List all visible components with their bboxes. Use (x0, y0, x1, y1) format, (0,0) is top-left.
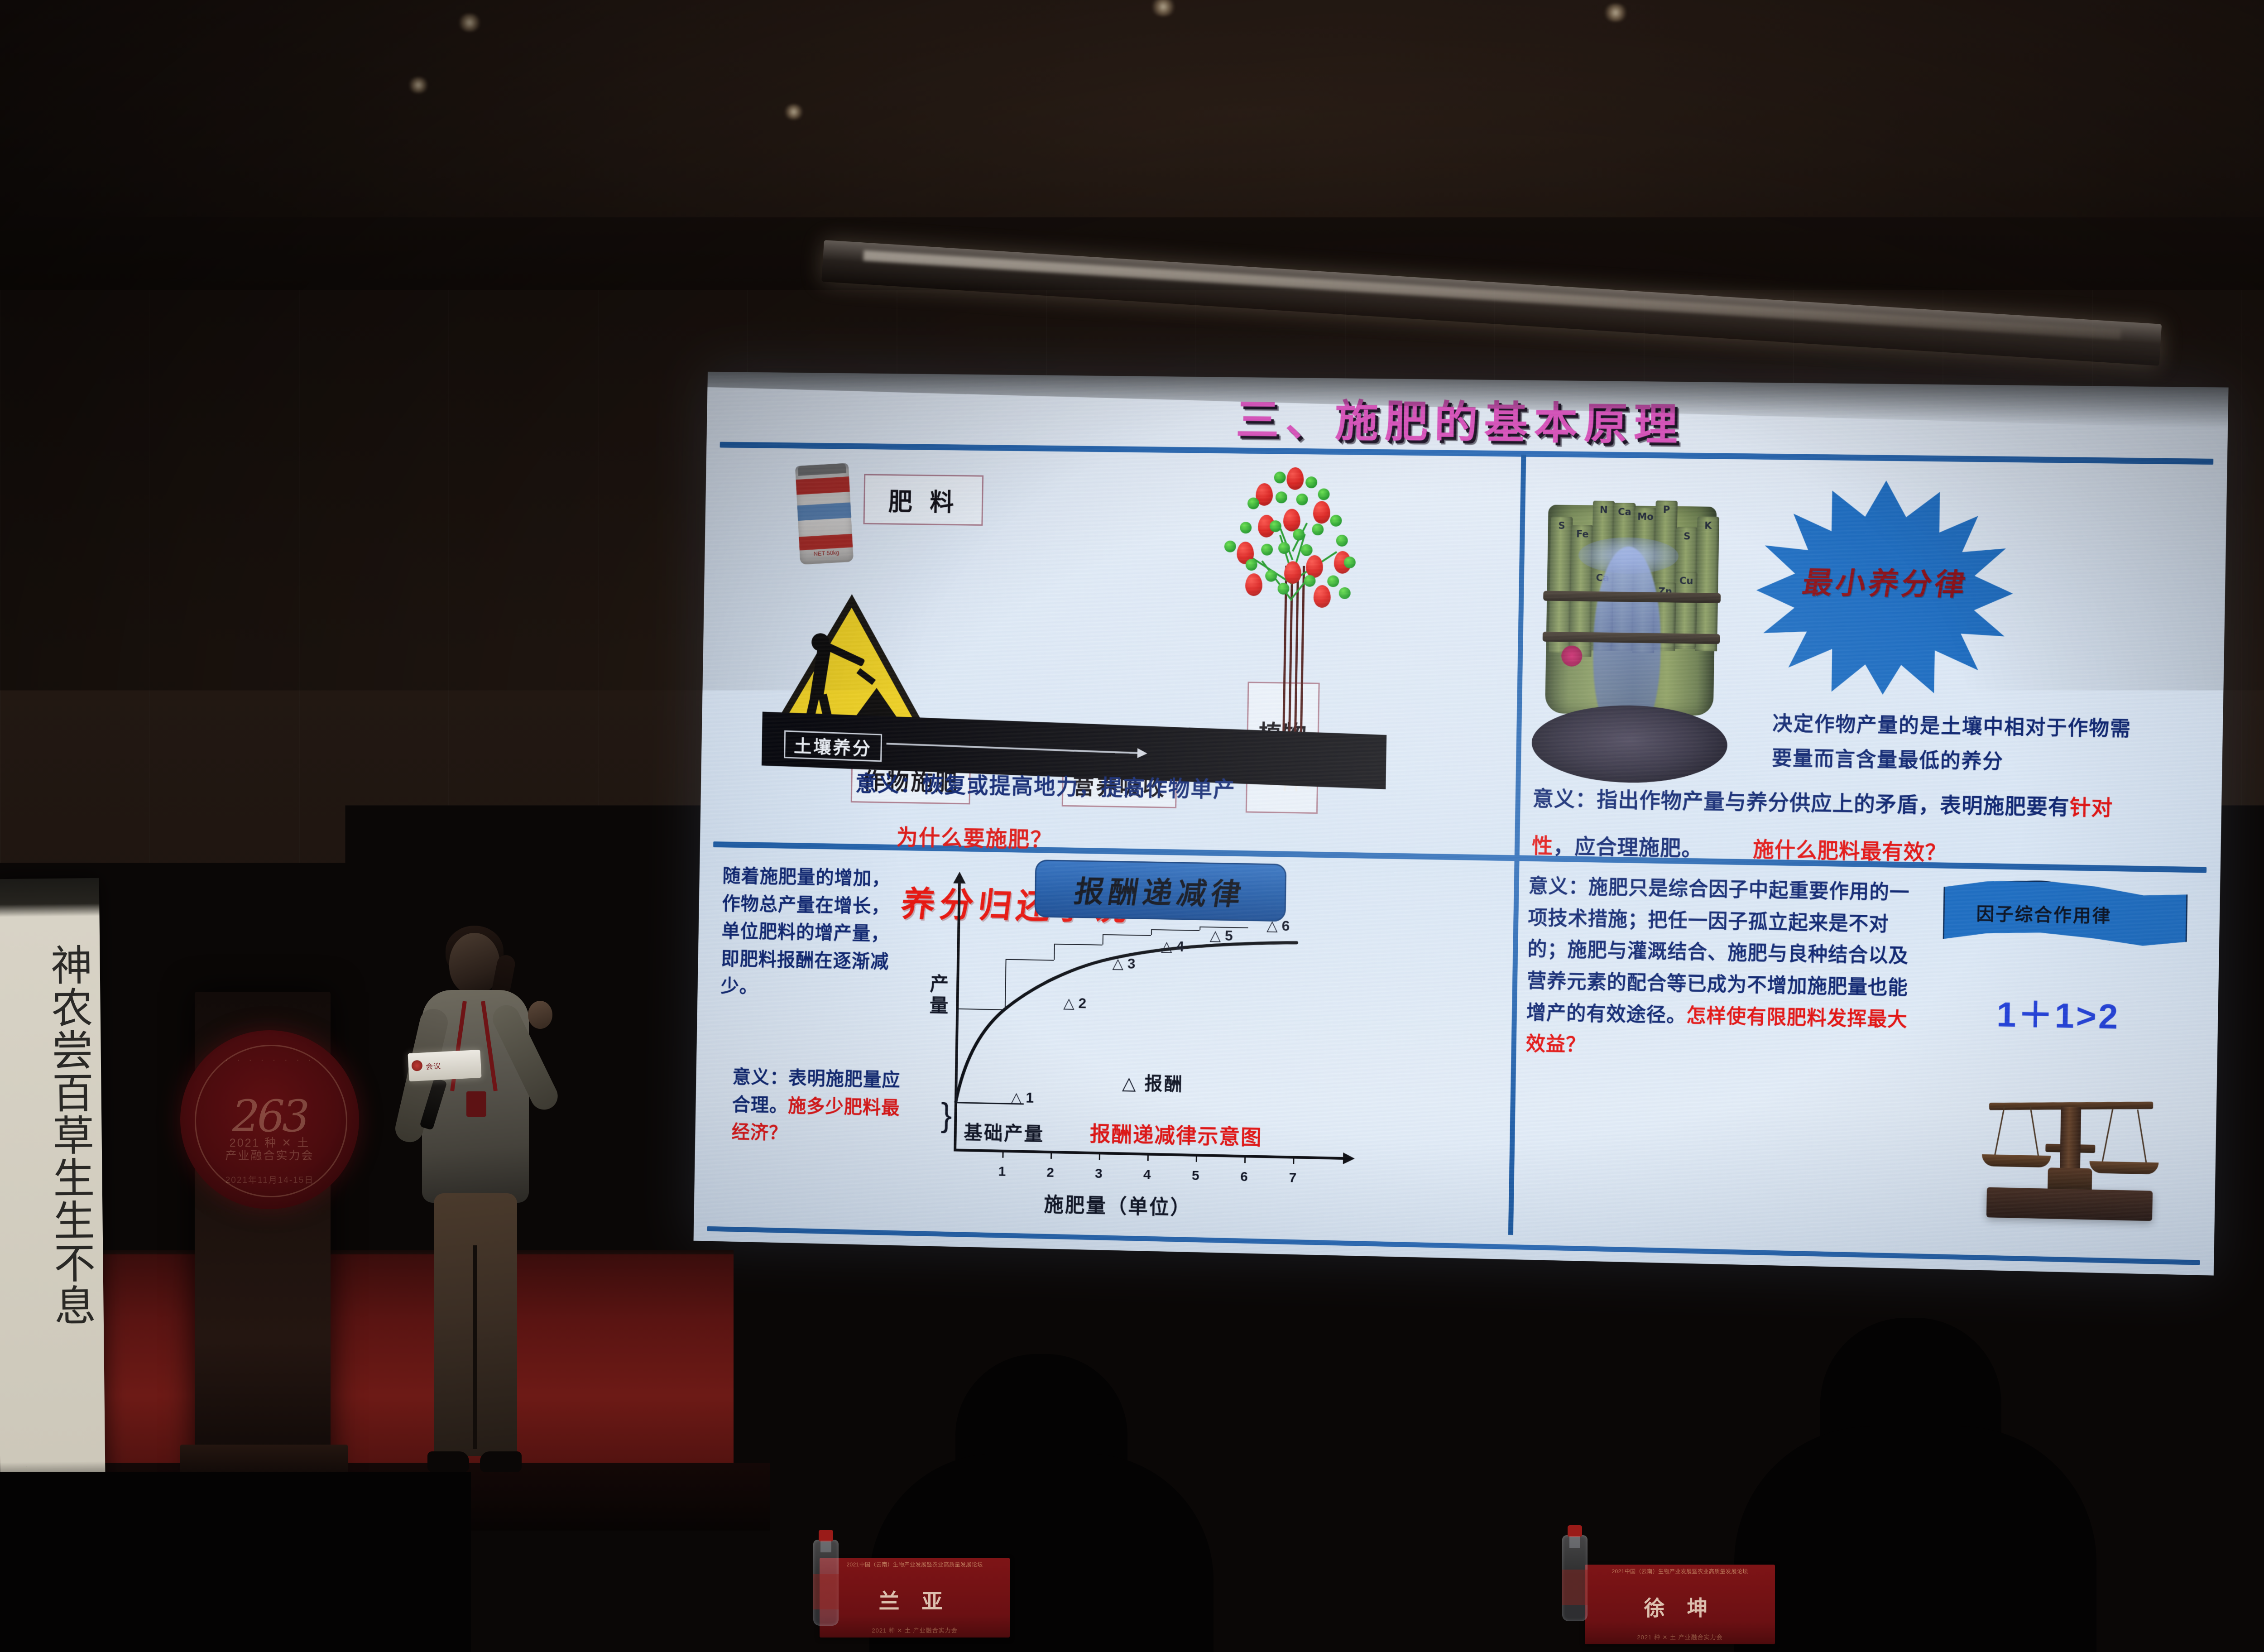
water-bottle (2223, 1513, 2249, 1599)
emblem-line-2: 产业融合实力会 (180, 1147, 359, 1163)
meaning-text-highlight-b: 性 (1532, 833, 1554, 858)
synergy-formula: 1＋1>2 (1996, 986, 2120, 1039)
nameplate-footer: 2021 种 ✕ 土 产业融合实力会 (1585, 1633, 1775, 1641)
ceiling-spot-light (408, 77, 429, 93)
chart-increment-label: △ 3 (1112, 955, 1135, 972)
combined-factors-paragraph: 意义：施肥只是综合因子中起重要作用的一项技术措施；把任一因子孤立起来是不对的；施… (1525, 871, 1912, 1068)
combined-factors-body: 意义：施肥只是综合因子中起重要作用的一项技术措施；把任一因子孤立起来是不对的；施… (1526, 875, 1910, 1027)
ceiling-spot-light (783, 104, 804, 120)
liebig-barrel-illustration: S Fe N Ca Mo P S K Ca Cu Zn (1531, 477, 1732, 789)
conference-room: 三、施肥的基本原理 NET 50kg 肥 料 作物 (0, 0, 2264, 1652)
fertilizer-bag-icon: NET 50kg (795, 463, 854, 565)
chart-increment-label: △ 1 (1011, 1089, 1034, 1106)
question-which-fertilizer: 施什么肥料最有效？ (1753, 837, 1947, 865)
barrel-stave: K (1695, 517, 1719, 652)
emblem-ring-text: · · · · · · · · (180, 1055, 359, 1066)
audience-silhouette (0, 1472, 471, 1652)
stave-label: K (1697, 520, 1719, 532)
diminishing-returns-chart: 报酬递减律 产量 施肥量（单位） 1 2 3 4 5 6 7 (910, 853, 1405, 1224)
stage-carpet (0, 1254, 734, 1490)
stave-label: P (1655, 504, 1678, 515)
nameplate-footer: 2021 种 ✕ 土 产业融合实力会 (2042, 1609, 2214, 1618)
meaning-text-part-a: 意义：指出作物产量与养分供应上的矛盾，表明施肥要有 (1532, 786, 2070, 820)
chart-increment-label: △ 6 (1266, 917, 1290, 935)
emblem-line-3: 2021年11月14-15日 (180, 1173, 359, 1186)
stave-label: Cu (1675, 575, 1698, 586)
chart-legend: △ 报酬 (1122, 1068, 1185, 1096)
chart-increment-label: △ 4 (1161, 937, 1184, 955)
stave-label: Fe (1572, 528, 1594, 540)
chart-baseline-brace: } (941, 1104, 952, 1127)
nameplate-footer: 2021 种 ✕ 土 产业融合实力会 (820, 1626, 1010, 1634)
meaning-text-highlight-a: 针对 (2069, 795, 2113, 820)
chart-step (1151, 929, 1199, 936)
chart-caption: 报酬递减律示意图 (1089, 1117, 1262, 1151)
nameplate-name: 王奉光 (2042, 1570, 2214, 1600)
ceiling-spot-light (457, 14, 482, 32)
presenter-speaker: 会议 (398, 933, 548, 1494)
ceiling-glow (0, 0, 2264, 217)
meaning-text-nutrient-return: 意义：恢复或提高地力，提高作物单产 (855, 766, 1236, 803)
law-of-minimum-description: 决定作物产量的是土壤中相对于作物需要量而言含量最低的养分 (1771, 707, 2139, 782)
water-bottle (813, 1540, 839, 1626)
quadrant-diminishing-returns: 随着施肥量的增加，作物总产量在增长，单位肥料的增产量，即肥料报酬在逐渐减少。 意… (710, 852, 1509, 1234)
quadrant-combined-factors: 意义：施肥只是综合因子中起重要作用的一项技术措施；把任一因子孤立起来是不对的；施… (1518, 866, 2204, 1249)
presentation-slide: 三、施肥的基本原理 NET 50kg 肥 料 作物 (694, 372, 2229, 1276)
nameplate: 2021中国（云南）生物产业发展暨农业高质量发展论坛 徐 坤 2021 种 ✕ … (1585, 1565, 1775, 1644)
nameplate-header: 2021中国（云南）生物产业发展暨农业高质量发展论坛 (1585, 1567, 1775, 1575)
stave-label: Ca (1614, 506, 1636, 518)
chart-step (1054, 944, 1102, 961)
question-why-fertilize: 为什么要施肥？ (896, 819, 1053, 853)
meaning-text-part-b: ，应合理施肥。 (1553, 834, 1703, 861)
worker-warning-sign-icon (777, 593, 926, 730)
ceiling-spot-light (1603, 4, 1628, 22)
diminishing-returns-meaning: 意义：表明施肥量应合理。施多少肥料最经济？ (731, 1063, 911, 1150)
nameplate-header: 2021中国（云南）生物产业发展暨农业高质量发展论坛 (820, 1561, 1010, 1568)
microphone-flag: 会议 (408, 1050, 481, 1081)
starburst-law-of-minimum: 最小养分律 (1755, 479, 2015, 696)
stave-label: S (1676, 531, 1698, 542)
meaning-text-law-of-minimum-line2: 性，应合理施肥。施什么肥料最有效？ (1532, 829, 1947, 866)
nameplate-name: 徐 坤 (1585, 1592, 1775, 1622)
nameplate-header: 2021中国（云南）生物产业发展暨农业高质量发展论坛 (2042, 1547, 2214, 1555)
chart-baseline-label: 基础产量 (964, 1117, 1045, 1146)
label-fertilizer: 肥 料 (863, 474, 984, 526)
water-bottle (1562, 1535, 1588, 1621)
chart-step (1103, 934, 1151, 946)
balance-scale-icon (1977, 1057, 2164, 1225)
nameplate: 2021中国（云南）生物产业发展暨农业高质量发展论坛 兰 亚 2021 种 ✕ … (820, 1558, 1010, 1638)
meaning-text-law-of-minimum: 意义：指出作物产量与养分供应上的矛盾，表明施肥要有针对 (1532, 782, 2113, 821)
top-left-meaning-block: 意义：恢复或提高地力，提高作物单产 为什么要施肥？ 养分归还学说 (716, 766, 1511, 865)
nameplate: 2021中国（云南）生物产业发展暨农业高质量发展论坛 王奉光 2021 种 ✕ … (2042, 1544, 2214, 1621)
label-soil-nutrients: 土壤养分 (784, 730, 882, 762)
diminishing-returns-paragraph: 随着施肥量的增加，作物总产量在增长，单位肥料的增产量，即肥料报酬在逐渐减少。 (720, 862, 908, 1004)
nameplate-name: 兰 亚 (820, 1585, 1010, 1615)
calligraphy-text: 神农尝百草生生不息 (2, 941, 98, 1441)
calligraphy-scroll: 神农尝百草生生不息 (0, 878, 106, 1513)
microphone-flag-label: 会议 (425, 1060, 441, 1071)
projection-screen: 三、施肥的基本原理 NET 50kg 肥 料 作物 (694, 372, 2229, 1276)
chart-step (956, 1008, 1005, 1103)
chart-step (1005, 959, 1054, 1010)
stave-label: N (1593, 504, 1615, 516)
starburst-label: 最小养分律 (1800, 558, 1971, 604)
top-right-meaning-block: 意义：指出作物产量与养分供应上的矛盾，表明施肥要有针对 性，应合理施肥。施什么肥… (1528, 779, 2207, 877)
chart-increment-label: △ 2 (1063, 994, 1086, 1012)
podium-emblem: · · · · · · · · 263 2021 种 ✕ 土 产业融合实力会 2… (180, 1030, 359, 1209)
chart-increment-label: △ 5 (1210, 927, 1233, 944)
stave-label: S (1551, 520, 1573, 532)
stave-label: Mo (1635, 511, 1657, 523)
ribbon-label: 因子综合作用律 (1976, 899, 2112, 927)
ribbon-combined-factors: 因子综合作用律 (1943, 879, 2188, 965)
